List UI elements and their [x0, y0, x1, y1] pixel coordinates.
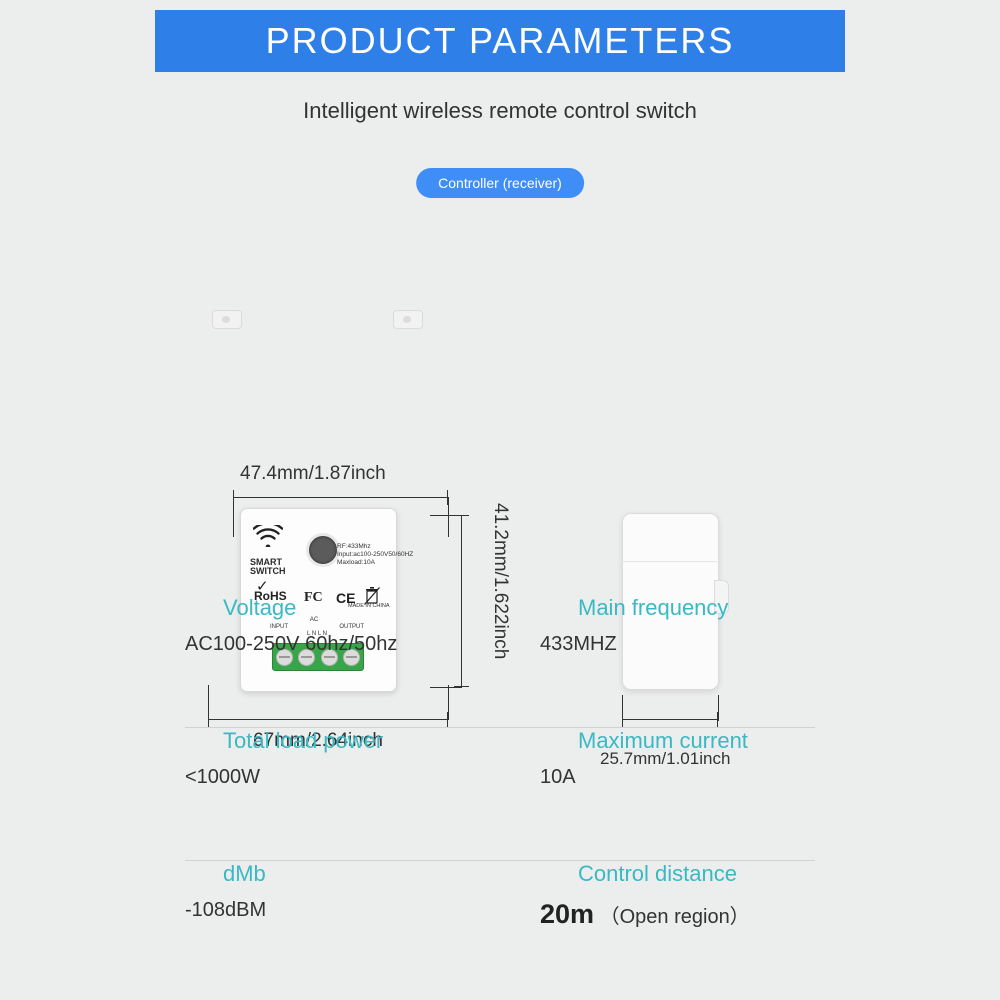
screw-hole-icon: [222, 316, 230, 323]
device-spec-maxload: Maxload:10A: [337, 559, 413, 567]
mounting-ear-left: [212, 310, 242, 329]
spec-label: Voltage: [223, 595, 397, 621]
spec-label: Control distance: [578, 861, 750, 887]
spec-cell-dmb: dMb -108dBM: [185, 861, 266, 922]
spec-row: Voltage AC100-250V 60hz/50hz Main freque…: [185, 595, 815, 728]
pair-button: [306, 533, 340, 567]
spec-value: AC100-250V 60hz/50hz: [185, 633, 397, 656]
spec-cell-total-load-power: Total load power <1000W: [185, 728, 383, 789]
spec-cell-control-distance: Control distance 20m （Open region）: [540, 861, 750, 930]
spec-table: Voltage AC100-250V 60hz/50hz Main freque…: [185, 595, 815, 994]
spec-value-note: （Open region）: [600, 906, 750, 928]
wifi-icon: [253, 525, 283, 552]
device-brand: SMART SWITCH: [250, 558, 286, 576]
spec-label: Total load power: [223, 728, 383, 754]
spec-value: 433MHZ: [540, 633, 728, 656]
spec-label: Maximum current: [578, 728, 748, 754]
screw-hole-icon: [403, 316, 411, 323]
spec-label: dMb: [223, 861, 266, 887]
spec-value: -108dBM: [185, 899, 266, 922]
device-brand-line2: SWITCH: [250, 567, 286, 576]
spec-cell-main-frequency: Main frequency 433MHZ: [540, 595, 728, 656]
spec-cell-maximum-current: Maximum current 10A: [540, 728, 748, 789]
device-spec-rf: RF:433Mhz: [337, 543, 413, 551]
dimension-top-tick-right: [448, 497, 449, 537]
spec-value-distance: 20m: [540, 899, 594, 929]
spec-row: Total load power <1000W Maximum current …: [185, 728, 815, 861]
dimension-top-tick-left: [233, 497, 234, 537]
device-spec-text: RF:433Mhz Input:ac100-250V50/60HZ Maxloa…: [337, 543, 413, 567]
spec-label: Main frequency: [578, 595, 728, 621]
spec-value: <1000W: [185, 766, 383, 789]
spec-row: dMb -108dBM Control distance 20m （Open r…: [185, 861, 815, 994]
mounting-ear-right: [393, 310, 423, 329]
cover-seam: [622, 561, 717, 562]
dimension-top-label: 47.4mm/1.87inch: [240, 463, 386, 485]
page-title: PRODUCT PARAMETERS: [266, 20, 735, 62]
product-diagram: 47.4mm/1.87inch SMART SWITCH RF:433Mhz I…: [0, 225, 1000, 555]
device-spec-input: Input:ac100-250V50/60HZ: [337, 551, 413, 559]
spec-value-group: 20m （Open region）: [540, 899, 750, 930]
controller-receiver-badge: Controller (receiver): [416, 168, 584, 198]
subtitle: Intelligent wireless remote control swit…: [0, 98, 1000, 124]
spec-cell-voltage: Voltage AC100-250V 60hz/50hz: [185, 595, 397, 656]
spec-value: 10A: [540, 766, 748, 789]
dimension-top-line: [233, 497, 448, 498]
header-banner: PRODUCT PARAMETERS: [155, 10, 845, 72]
